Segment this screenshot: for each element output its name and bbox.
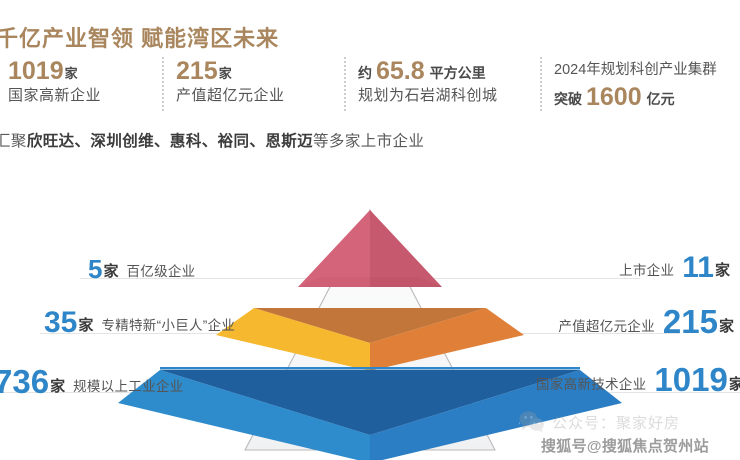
- pyramid-label-right-0: 上市企业11家: [611, 253, 730, 283]
- watermark: 公众号：聚家好房 搜狐号@搜狐焦点贺州站: [519, 411, 740, 459]
- stat-suffix-2: 平方公里: [430, 65, 486, 81]
- watermark-source-label: 搜狐号@搜狐焦点贺州站: [541, 435, 709, 456]
- stat-block-3: 2024年规划科创产业集群 突破1600亿元: [540, 57, 740, 111]
- subtitle-companies: 欣旺达、深圳创维、惠科、裕同、恩斯迈: [27, 133, 313, 150]
- stat-number-0: 1019: [8, 57, 64, 85]
- stat-suffix-3: 亿元: [647, 91, 675, 107]
- pyramid-label-left-0: 5家百亿级企业: [88, 256, 203, 282]
- stat-prefix-2: 约: [358, 65, 372, 81]
- pyramid-left-text-0: 百亿级企业: [126, 264, 195, 279]
- pyramid-left-text-2: 规模以上工业企业: [73, 379, 183, 394]
- stat-block-1: 215家 产值超亿元企业: [162, 57, 344, 111]
- pyramid-right-number-2: 1019: [654, 361, 727, 398]
- pyramid-right-unit-1: 家: [719, 318, 734, 335]
- stat-unit-1: 家: [219, 66, 232, 81]
- stat-value-2: 约65.8平方公里: [358, 57, 540, 85]
- tier-bot-highlight: [160, 367, 580, 370]
- pyramid-left-unit-2: 家: [50, 378, 65, 395]
- subtitle-suffix: 等多家上市企业: [313, 133, 424, 150]
- stat-caption-0: 国家高新企业: [8, 85, 162, 107]
- stat-unit-0: 家: [65, 66, 78, 81]
- pyramid-right-unit-2: 家: [729, 376, 740, 393]
- stats-row: 1019家 国家高新企业 215家 产值超亿元企业 约65.8平方公里 规划为石…: [0, 57, 740, 113]
- pyramid-tier-top: [298, 210, 442, 287]
- pyramid-right-unit-0: 家: [715, 262, 730, 279]
- stat-block-2: 约65.8平方公里 规划为石岩湖科创城: [344, 57, 540, 111]
- stat-caption-2: 规划为石岩湖科创城: [358, 85, 540, 107]
- subtitle: 汇聚欣旺达、深圳创维、惠科、裕同、恩斯迈等多家上市企业: [0, 129, 424, 151]
- tier-top-left-face: [298, 210, 370, 287]
- pyramid-label-left-1: 35家专精特新“小巨人”企业: [44, 308, 243, 338]
- pyramid-tier-middle: [216, 308, 524, 371]
- pyramid-label-right-1: 产值超亿元企业215家: [550, 305, 734, 338]
- stat-number-3: 1600: [586, 83, 642, 111]
- pyramid-right-number-0: 11: [682, 251, 714, 284]
- pyramid-left-number-2: 736: [0, 363, 49, 400]
- stat-caption-1: 产值超亿元企业: [176, 85, 344, 107]
- pyramid-right-number-1: 215: [663, 303, 718, 340]
- stat-prefix-3: 突破: [554, 91, 582, 107]
- wechat-icon: [519, 411, 545, 433]
- pyramid-left-number-1: 35: [44, 306, 77, 339]
- pyramid-left-text-1: 专精特新“小巨人”企业: [101, 318, 235, 333]
- subtitle-prefix: 汇聚: [0, 133, 27, 150]
- stat-number-1: 215: [176, 57, 218, 85]
- stat-value-0: 1019家: [8, 57, 162, 85]
- pyramid-left-unit-0: 家: [103, 263, 118, 280]
- stat-number-2: 65.8: [376, 57, 425, 85]
- stat-value-3: 突破1600亿元: [554, 83, 740, 111]
- stat-caption-3: 2024年规划科创产业集群: [554, 57, 740, 83]
- stat-value-1: 215家: [176, 57, 344, 85]
- pyramid-left-number-0: 5: [88, 254, 102, 284]
- pyramid-label-left-2: 736家规模以上工业企业: [0, 365, 191, 398]
- pyramid-right-text-1: 产值超亿元企业: [558, 319, 655, 334]
- tier-top-right-face: [370, 210, 442, 287]
- watermark-account: 公众号：聚家好房: [519, 411, 680, 433]
- pyramid-left-unit-1: 家: [78, 317, 93, 334]
- stat-block-0: 1019家 国家高新企业: [0, 57, 162, 111]
- watermark-account-label: 公众号：聚家好房: [552, 412, 680, 433]
- infographic-canvas: 千亿产业智领 赋能湾区未来 1019家 国家高新企业 215家 产值超亿元企业 …: [0, 0, 740, 460]
- pyramid-right-text-2: 国家高新技术企业: [536, 377, 646, 392]
- pyramid-label-right-2: 国家高新技术企业1019家: [528, 363, 740, 396]
- page-title: 千亿产业智领 赋能湾区未来: [0, 21, 279, 53]
- pyramid-right-text-0: 上市企业: [619, 263, 674, 278]
